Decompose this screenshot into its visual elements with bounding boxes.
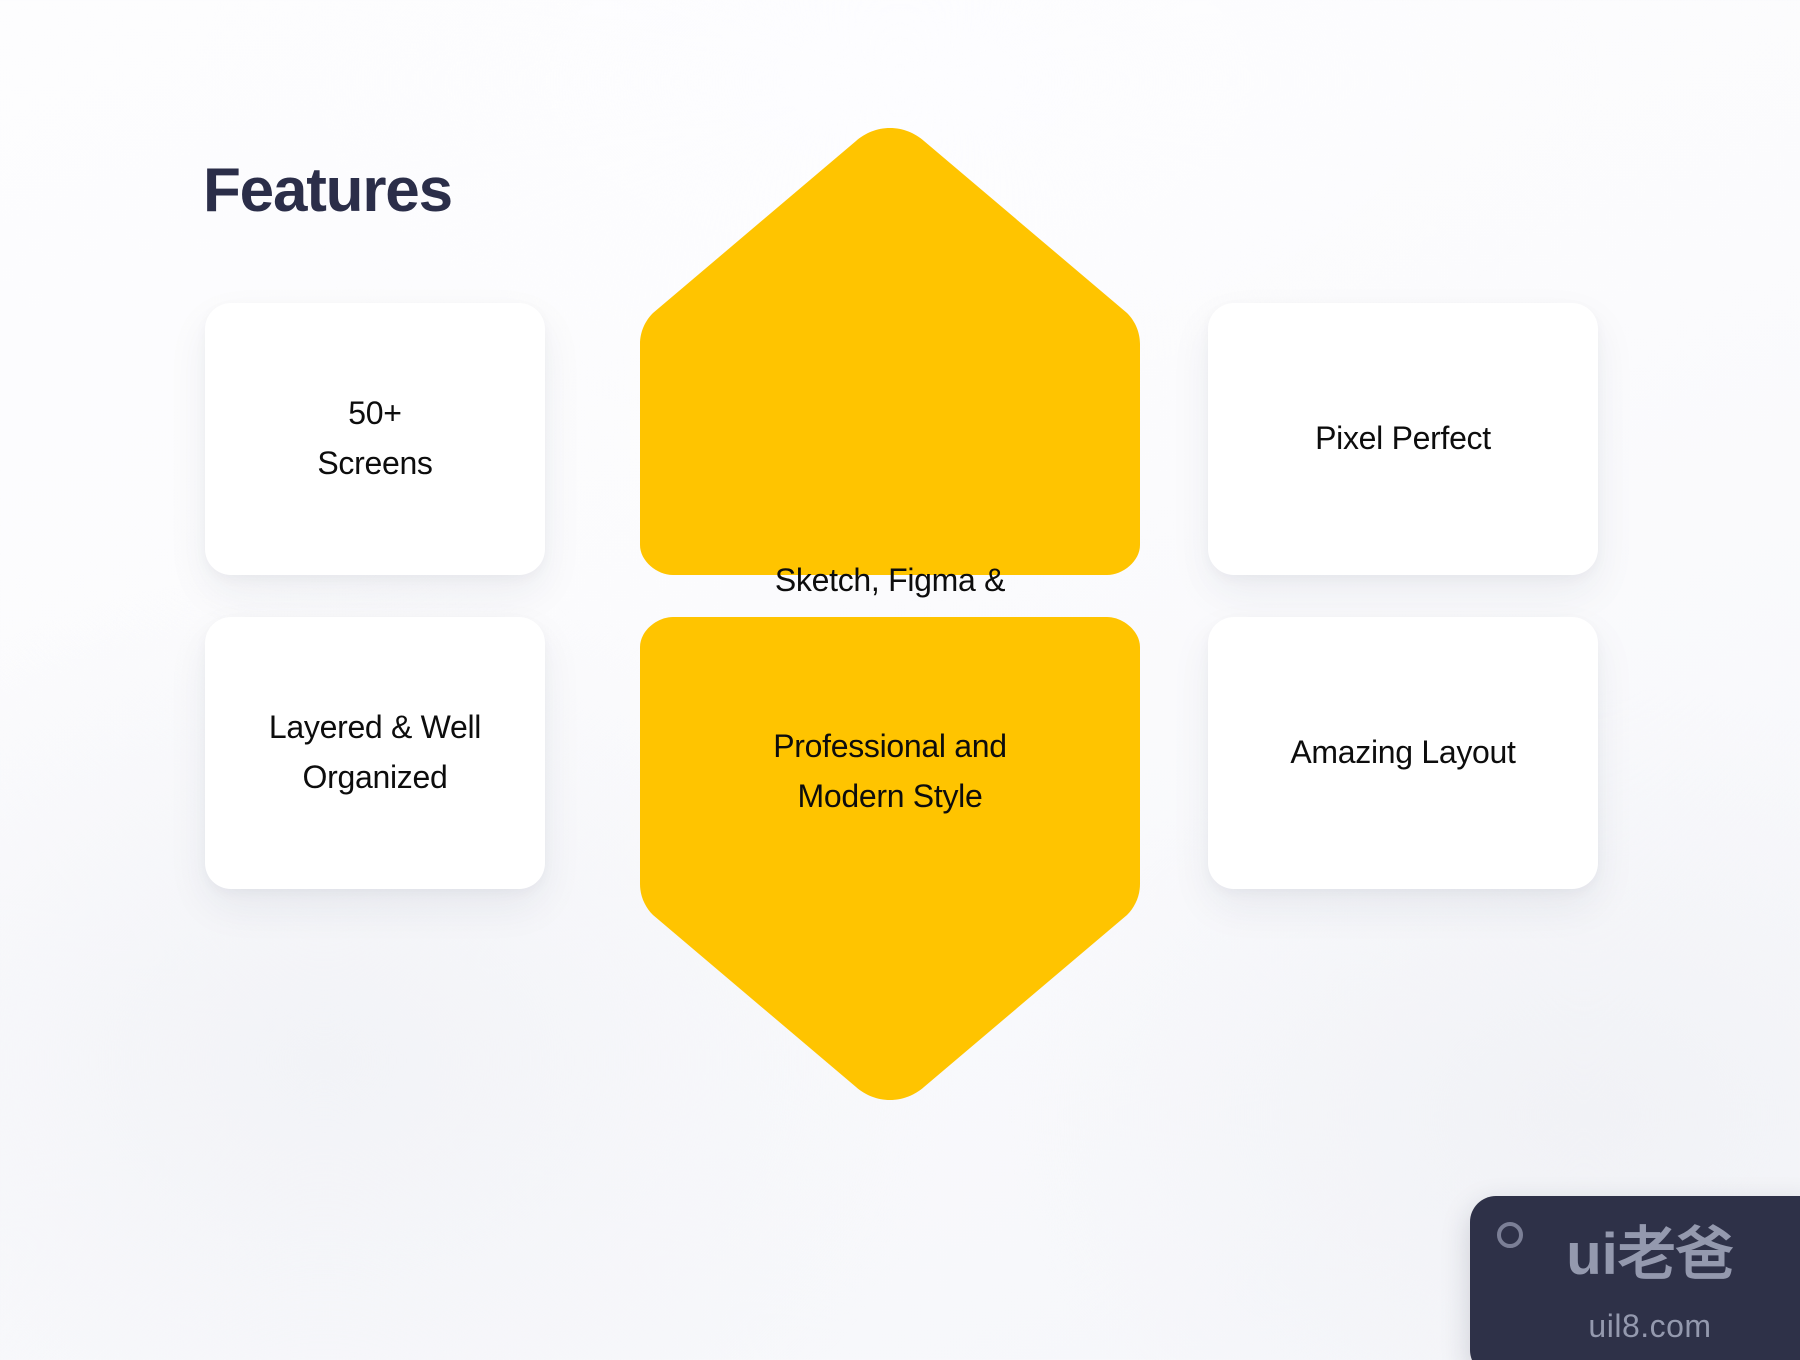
- feature-card-label: Professional and Modern Style: [773, 722, 1007, 821]
- feature-card-modern-style[interactable]: Professional and Modern Style: [640, 617, 1140, 1100]
- feature-card-label: Pixel Perfect: [1315, 414, 1491, 464]
- feature-card-files-included[interactable]: Sketch, Figma & XD Files Included: [640, 128, 1140, 575]
- feature-card-amazing-layout[interactable]: Amazing Layout: [1208, 617, 1598, 889]
- feature-card-pixel-perfect[interactable]: Pixel Perfect: [1208, 303, 1598, 575]
- pentagon-up-shape: [640, 128, 1140, 575]
- watermark-url: uil8.com: [1470, 1308, 1800, 1345]
- feature-card-label: 50+ Screens: [317, 389, 432, 488]
- feature-card-layered-organized[interactable]: Layered & Well Organized: [205, 617, 545, 889]
- feature-card-screens[interactable]: 50+ Screens: [205, 303, 545, 575]
- feature-card-label: Layered & Well Organized: [269, 703, 481, 802]
- feature-card-label: Amazing Layout: [1290, 728, 1515, 778]
- feature-card-text-wrap: Professional and Modern Style: [640, 712, 1140, 832]
- watermark-badge: ui老爸 uil8.com: [1470, 1196, 1800, 1360]
- features-grid: 50+ Screens Sketch, Figma & XD Files Inc…: [0, 0, 1800, 1360]
- pentagon-down-shape: [640, 617, 1140, 1100]
- watermark-brand: ui老爸: [1470, 1226, 1800, 1284]
